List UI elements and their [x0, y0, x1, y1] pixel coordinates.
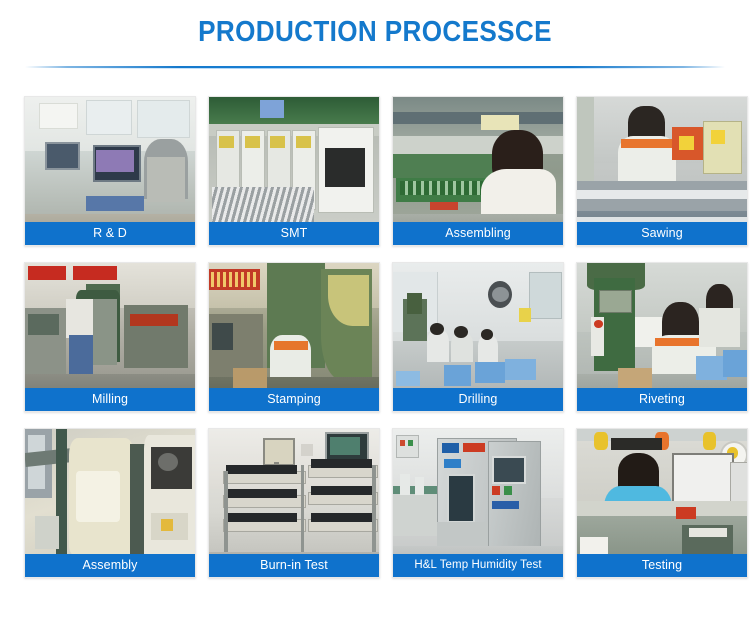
- process-card[interactable]: Burn-in Test: [208, 428, 380, 578]
- page-header: PRODUCTION PROCESSCE: [0, 0, 750, 74]
- process-card[interactable]: Stamping: [208, 262, 380, 412]
- process-card[interactable]: Milling: [24, 262, 196, 412]
- process-caption: Riveting: [577, 388, 747, 411]
- process-card[interactable]: Drilling: [392, 262, 564, 412]
- process-caption: Assembling: [393, 222, 563, 245]
- process-card[interactable]: R & D: [24, 96, 196, 246]
- process-caption: Milling: [25, 388, 195, 411]
- process-card[interactable]: SMT: [208, 96, 380, 246]
- process-caption: Sawing: [577, 222, 747, 245]
- process-card[interactable]: Riveting: [576, 262, 748, 412]
- title-divider: [0, 60, 750, 74]
- process-card[interactable]: Assembly: [24, 428, 196, 578]
- process-caption: H&L Temp Humidity Test: [393, 554, 563, 577]
- process-card[interactable]: Sawing: [576, 96, 748, 246]
- process-card[interactable]: Testing: [576, 428, 748, 578]
- page-title: PRODUCTION PROCESSCE: [38, 16, 713, 48]
- process-caption: Stamping: [209, 388, 379, 411]
- process-caption: R & D: [25, 222, 195, 245]
- process-caption: SMT: [209, 222, 379, 245]
- process-card[interactable]: H&L Temp Humidity Test: [392, 428, 564, 578]
- process-caption: Testing: [577, 554, 747, 577]
- process-caption: Drilling: [393, 388, 563, 411]
- process-caption: Burn-in Test: [209, 554, 379, 577]
- process-card[interactable]: Assembling: [392, 96, 564, 246]
- production-process-grid: R & D SMT: [12, 74, 738, 578]
- process-caption: Assembly: [25, 554, 195, 577]
